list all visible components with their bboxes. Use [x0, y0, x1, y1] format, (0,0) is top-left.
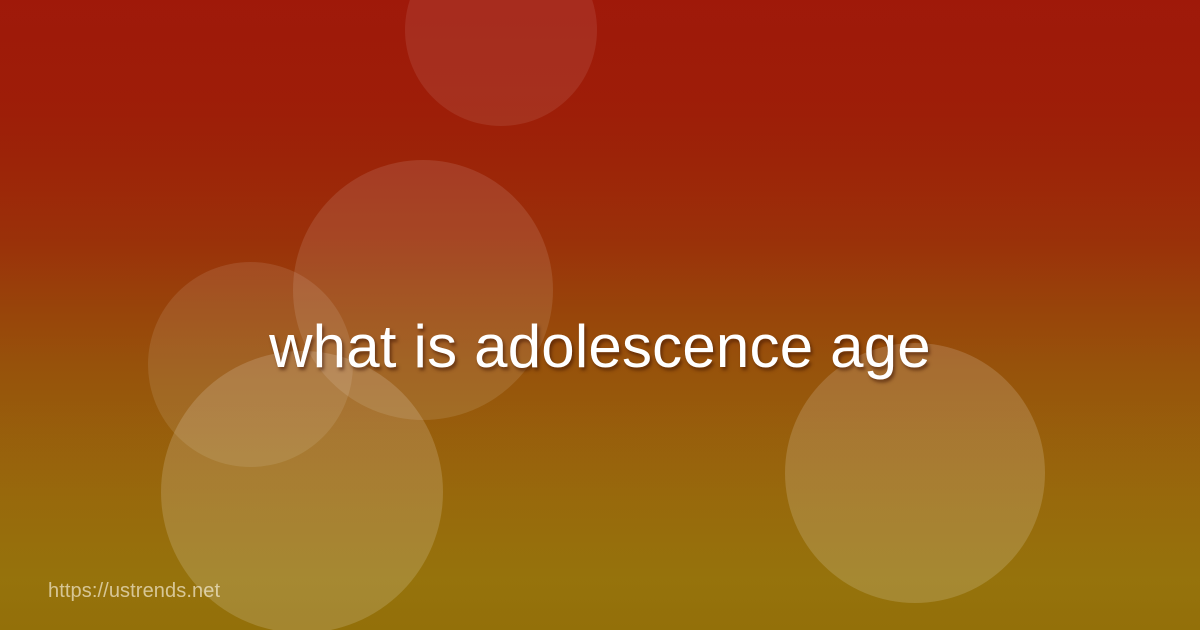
social-share-card: what is adolescence age https://ustrends… [0, 0, 1200, 630]
site-url-watermark: https://ustrends.net [48, 580, 220, 603]
decorative-circle-bottom-right [785, 343, 1045, 603]
decorative-circle-top [405, 0, 597, 126]
decorative-circle-center-large [293, 160, 553, 420]
page-title: what is adolescence age [0, 313, 1200, 380]
